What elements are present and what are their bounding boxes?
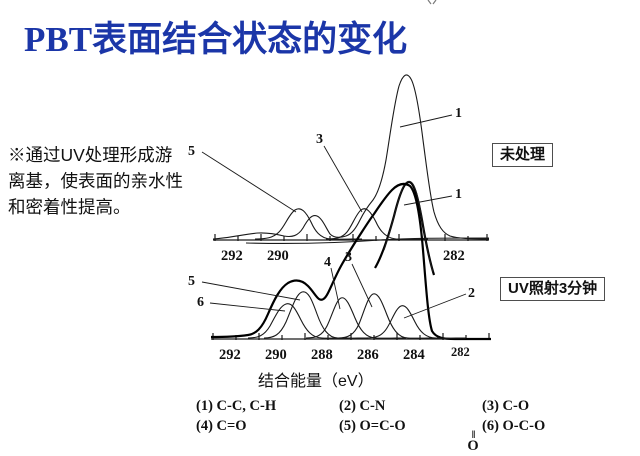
bottom-callout-5: 5 [188,275,195,289]
bottom-callout-2-leader [404,294,466,318]
top-callout-1a: 1 [455,107,462,121]
bottom-axis-tick-282: 282 [451,345,470,360]
legend-item-6: (6) O-C-O [482,418,625,435]
legend-item-1: (1) C-C, C-H [196,398,339,415]
mid-callout-3: 3 [345,251,352,265]
top-axis-tick-292: 292 [221,249,243,264]
bottom-callout-6-leader [210,303,285,311]
top-component-1-curve [375,182,434,275]
bottom-callout-2: 2 [468,287,475,301]
slide-root: PBT表面结合状态的变化 ※通过UV处理形成游离基，使表面的亲水性和密着性提高。… [0,0,640,456]
top-component-1b-curve [384,181,433,272]
top-callout-1b: 1 [455,188,462,202]
top-envelope-curve [213,75,489,239]
bottom-component-3-curve [338,294,438,338]
bottom-callout-6: 6 [197,296,204,310]
legend-item-2: (2) C-N [339,398,482,415]
top-callout-1b-leader [404,196,452,205]
legend-item-6-carbonyl: ‖ O [443,430,503,453]
top-chart [202,75,489,275]
legend-item-3: (3) C-O [482,398,625,415]
top-axis-tick-290: 290 [267,249,289,264]
top-component-5-curve [255,209,362,239]
bottom-component-4-curve [306,298,406,338]
oxygen-atom-glyph: O [443,440,503,453]
bottom-axis-tick-286: 286 [357,348,379,363]
top-callout-5-leader [202,152,296,212]
legend-row: (4) C=O (5) O=C-O (6) O-C-O [196,418,626,435]
top-callout-5: 5 [188,145,195,159]
bottom-component-2-curve [366,306,466,339]
mid-callout-4: 4 [324,256,331,270]
top-callout-1a-leader [400,115,452,127]
bottom-axis-tick-290: 290 [265,348,287,363]
top-axis-tick-282: 282 [443,249,465,264]
bottom-axis-tick-292: 292 [219,348,241,363]
bottom-callout-3-leader [352,264,372,307]
legend-item-4: (4) C=O [196,418,339,435]
bottom-axis-tick-288: 288 [311,348,333,363]
bottom-axis-tick-284: 284 [403,348,425,363]
bottom-component-5-curve [264,292,368,338]
top-baseline-tail-curve [246,238,489,243]
legend-row: (1) C-C, C-H (2) C-N (3) C-O [196,398,626,415]
top-artifact-mark [428,0,436,4]
x-axis-title: 结合能量（eV） [258,367,374,391]
top-callout-3-leader [324,146,362,212]
top-callout-3: 3 [316,133,323,147]
top-component-3-curve [326,209,428,239]
bottom-callout-4-leader [331,268,340,309]
species-legend: (1) C-C, C-H (2) C-N (3) C-O (4) C=O (5)… [196,398,626,438]
